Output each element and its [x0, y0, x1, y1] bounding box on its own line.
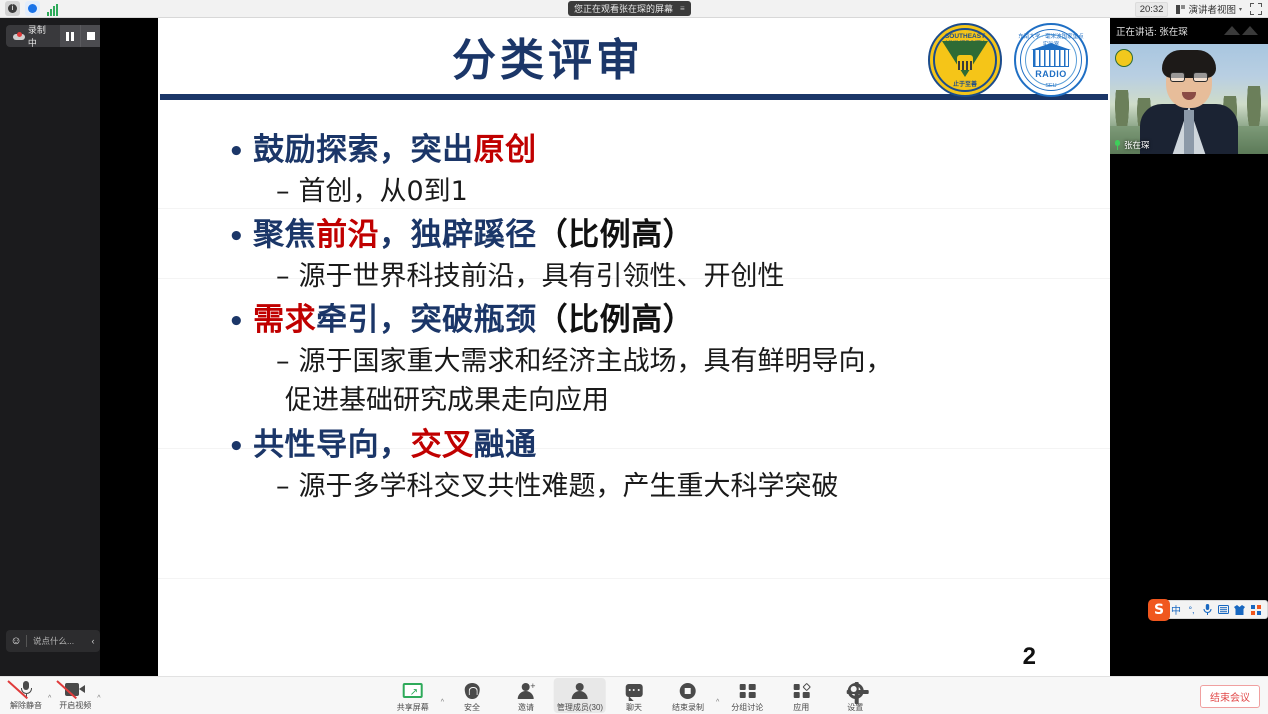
radio-lab-logo: 东南大学 · 毫米波国家重点实验室 RADIO SEU [1014, 23, 1088, 97]
participant-video-tile[interactable]: 张在琛 [1110, 44, 1268, 154]
screen-share-notice-text: 您正在观看张在琛的屏幕 [574, 2, 673, 15]
bullet-segment: 前沿 [316, 217, 379, 253]
bullet-segment: 需求 [253, 302, 316, 338]
brand-mark-icon [1224, 26, 1258, 35]
bullet-segment: 鼓励探索，突出 [253, 132, 474, 168]
unmute-label: 解除静音 [6, 700, 46, 711]
bullet-segment: ，独辟蹊径 [379, 217, 537, 253]
bullet-block: •需求牵引，突破瓶颈（比例高）–源于国家重大需求和经济主战场，具有鲜明导向，促进… [228, 298, 1098, 420]
share-screen-label: 共享屏幕 [397, 702, 429, 713]
start-video-button[interactable]: 开启视频 ^ [55, 679, 100, 711]
share-screen-icon: ↗ [403, 680, 423, 701]
shared-slide: 分类评审 SOUTHEAST UNIVERSITY 止于至善 东南大学 · 毫米… [158, 18, 1110, 676]
recording-indicator: 录制中 [6, 25, 100, 47]
letterbox-left [100, 18, 158, 676]
invite-label: 邀请 [518, 702, 534, 713]
settings-button[interactable]: 设置 [829, 678, 881, 713]
unmute-button[interactable]: 解除静音 ^ [6, 679, 51, 711]
bullet-level2: –源于国家重大需求和经济主战场，具有鲜明导向， [276, 342, 1098, 381]
bullet-segment: （比例高） [537, 217, 695, 253]
sub-bullet-dash-icon: – [276, 172, 290, 211]
sub-bullet-text: 源于国家重大需求和经济主战场，具有鲜明导向， [299, 342, 893, 381]
signal-bars-icon[interactable] [45, 1, 60, 16]
bullet-segment: （比例高） [537, 302, 695, 338]
meeting-toolbar: 解除静音 ^ 开启视频 ^ ↗ 共享屏幕 ^ 安全 + [0, 676, 1268, 714]
cloud-record-icon [13, 32, 23, 40]
sub-bullet-dash-icon: – [276, 342, 290, 381]
bullet-segment: 融通 [474, 427, 537, 463]
video-options-chevron-icon[interactable]: ^ [97, 695, 100, 711]
camera-off-icon [55, 679, 95, 699]
end-meeting-button[interactable]: 结束会议 [1200, 685, 1260, 708]
center-toolbar: ↗ 共享屏幕 ^ 安全 + 邀请 管理成员(30) 聊天 结束录制 ^ 分组讨论 [387, 678, 882, 713]
sogou-ime-toolbar[interactable]: S 中 °, [1150, 600, 1268, 619]
start-video-label: 开启视频 [55, 700, 95, 711]
layout-icon [1176, 5, 1185, 14]
seu-logo-bottom-text: 止于至善 [930, 79, 1000, 88]
stop-record-icon [680, 680, 696, 701]
chat-button[interactable]: 聊天 [608, 678, 660, 713]
southeast-university-logo: SOUTHEAST UNIVERSITY 止于至善 [928, 23, 1002, 97]
person-add-icon: + [518, 680, 535, 701]
sub-bullet-dash-icon: – [276, 467, 290, 506]
chevron-down-icon[interactable]: ▾ [1239, 6, 1242, 13]
security-label: 安全 [464, 702, 480, 713]
grid-icon [739, 680, 755, 701]
manage-participants-button[interactable]: 管理成员(30) [554, 678, 606, 713]
breakout-rooms-button[interactable]: 分组讨论 [721, 678, 773, 713]
mic-active-icon [1114, 140, 1121, 150]
recording-controls [60, 25, 100, 47]
chat-label: 聊天 [626, 702, 642, 713]
apps-label: 应用 [793, 702, 809, 713]
apps-button[interactable]: 应用 [775, 678, 827, 713]
radio-logo-word: RADIO [1016, 69, 1086, 79]
university-badge-icon [1115, 49, 1133, 67]
pause-icon[interactable] [60, 25, 80, 47]
sub-bullet-text: 首创，从0到1 [299, 172, 468, 211]
ime-apps-icon[interactable] [1250, 604, 1261, 615]
bullet-block: •聚焦前沿，独辟蹊径（比例高）–源于世界科技前沿，具有引领性、开创性 [228, 213, 1098, 296]
bullet-level1: •需求牵引，突破瓶颈（比例高） [228, 298, 1098, 342]
info-icon[interactable]: i [5, 1, 20, 16]
ime-mic-icon[interactable] [1202, 604, 1213, 615]
video-panel: 正在讲话: 张在琛 张在琛 [1110, 18, 1268, 676]
apps-icon [793, 680, 809, 701]
gear-icon [847, 680, 863, 701]
slide-page-number: 2 [1023, 643, 1036, 671]
participant-name: 张在琛 [1124, 139, 1150, 151]
bullet-segment: 共性导向， [253, 427, 411, 463]
os-bar-right: 20:32 演讲者视图 ▾ [1135, 0, 1268, 18]
stop-recording-label: 结束录制 [672, 702, 704, 713]
clock: 20:32 [1135, 2, 1169, 17]
bullet-segment: 交叉 [411, 427, 474, 463]
chat-icon [626, 680, 643, 701]
notice-menu-icon[interactable]: ≡ [680, 4, 685, 13]
view-mode-switch[interactable]: 演讲者视图 ▾ [1176, 2, 1242, 16]
share-options-chevron-icon[interactable]: ^ [441, 685, 444, 706]
audio-video-controls: 解除静音 ^ 开启视频 ^ [6, 679, 101, 711]
chat-input-placeholder[interactable]: 说点什么... [27, 635, 86, 647]
glasses [1170, 72, 1208, 82]
ime-keyboard-icon[interactable] [1218, 604, 1229, 615]
bullet-marker-icon: • [228, 309, 245, 335]
view-mode-label: 演讲者视图 [1188, 2, 1236, 16]
security-button[interactable]: 安全 [446, 678, 498, 713]
sub-bullet-text: 源于世界科技前沿，具有引领性、开创性 [299, 257, 785, 296]
bullet-marker-icon: • [228, 139, 245, 165]
participant-name-tag: 张在琛 [1114, 139, 1150, 151]
bullet-level1: •共性导向，交叉融通 [228, 423, 1098, 467]
bullet-level2: 促进基础研究成果走向应用 [276, 381, 1098, 420]
record-options-chevron-icon[interactable]: ^ [716, 685, 719, 706]
bullet-level1: •聚焦前沿，独辟蹊径（比例高） [228, 213, 1098, 257]
screen-share-notice: 您正在观看张在琛的屏幕 ≡ [568, 1, 691, 16]
ime-punctuation-icon[interactable]: °, [1186, 604, 1197, 615]
manage-participants-label: 管理成员(30) [557, 702, 603, 713]
sogou-logo-icon[interactable]: S [1148, 599, 1170, 621]
bullet-level1: •鼓励探索，突出原创 [228, 128, 1098, 172]
bullet-segment: 聚焦 [253, 217, 316, 253]
quick-chat-bar[interactable]: ☺ 说点什么... ‹ [6, 630, 100, 652]
share-screen-button[interactable]: ↗ 共享屏幕 [387, 678, 439, 713]
bullet-marker-icon: • [228, 224, 245, 250]
bullet-marker-icon: • [228, 434, 245, 460]
shield-icon [465, 680, 480, 701]
bullet-segment: 牵引，突破瓶颈 [316, 302, 537, 338]
breakout-rooms-label: 分组讨论 [731, 702, 763, 713]
bullet-level2: –源于世界科技前沿，具有引领性、开创性 [276, 257, 1098, 296]
bullet-level2: –首创，从0到1 [276, 172, 1098, 211]
bullet-block: •共性导向，交叉融通–源于多学科交叉共性难题，产生重大科学突破 [228, 423, 1098, 506]
page-title: 分类评审 [158, 24, 938, 88]
ime-skin-icon[interactable] [1234, 604, 1245, 615]
slide-bullets: •鼓励探索，突出原创–首创，从0到1•聚焦前沿，独辟蹊径（比例高）–源于世界科技… [228, 128, 1098, 508]
mic-muted-icon [6, 679, 46, 699]
participants-icon [572, 680, 589, 701]
audio-options-chevron-icon[interactable]: ^ [48, 695, 51, 711]
bullet-block: •鼓励探索，突出原创–首创，从0到1 [228, 128, 1098, 211]
bullet-level2: –源于多学科交叉共性难题，产生重大科学突破 [276, 467, 1098, 506]
os-top-bar: i 您正在观看张在琛的屏幕 ≡ 20:32 演讲者视图 ▾ [0, 0, 1268, 18]
fullscreen-icon[interactable] [1250, 3, 1262, 15]
bullet-segment: 原创 [474, 132, 537, 168]
left-panel: 录制中 ☺ 说点什么... ‹ [0, 18, 100, 676]
invite-button[interactable]: + 邀请 [500, 678, 552, 713]
emoji-icon[interactable]: ☺ [6, 635, 26, 647]
recording-label: 录制中 [28, 23, 50, 49]
sub-bullet-text: 源于多学科交叉共性难题，产生重大科学突破 [299, 467, 839, 506]
logo-row: SOUTHEAST UNIVERSITY 止于至善 东南大学 · 毫米波国家重点… [928, 23, 1088, 97]
shield-icon[interactable] [25, 1, 40, 16]
sub-bullet-text: 促进基础研究成果走向应用 [285, 381, 609, 420]
stop-recording-button[interactable]: 结束录制 [662, 678, 714, 713]
radio-logo-bottom-text: SEU [1016, 83, 1086, 89]
ime-mode-toggle[interactable]: 中 [1171, 602, 1181, 617]
sub-bullet-dash-icon: – [276, 257, 290, 296]
stop-icon[interactable] [80, 25, 100, 47]
collapse-icon[interactable]: ‹ [86, 636, 100, 646]
